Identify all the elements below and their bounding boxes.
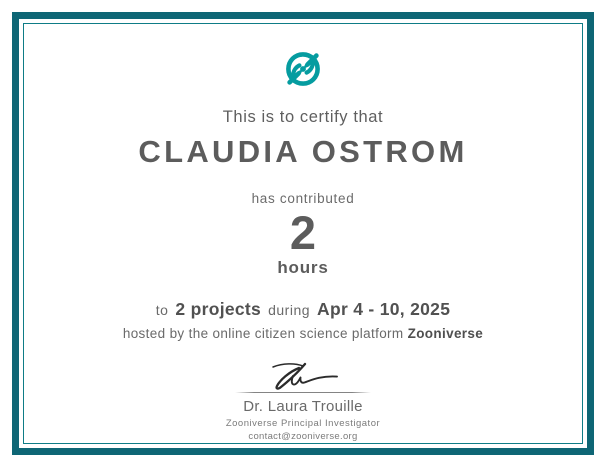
projects-count: 2 projects — [175, 299, 261, 319]
certify-text: This is to certify that — [223, 108, 384, 127]
projects-prefix-label: to — [156, 302, 169, 318]
platform-brand-name: Zooniverse — [408, 326, 484, 341]
projects-date-line: to2 projectsduringApr 4 - 10, 2025 — [156, 299, 451, 320]
signer-contact-email: contact@zooniverse.org — [248, 431, 357, 442]
signer-name: Dr. Laura Trouille — [243, 398, 363, 415]
during-label: during — [268, 302, 310, 318]
signature-rule — [235, 392, 371, 393]
zooniverse-logo-icon — [280, 46, 326, 92]
signature-mark-icon — [253, 361, 353, 391]
date-range: Apr 4 - 10, 2025 — [317, 299, 450, 319]
signature-block: Dr. Laura Trouille Zooniverse Principal … — [203, 361, 403, 442]
certificate-outer-border: This is to certify that CLAUDIA OSTROM h… — [12, 12, 594, 455]
hours-label: hours — [277, 258, 328, 278]
certificate: This is to certify that CLAUDIA OSTROM h… — [0, 0, 606, 467]
recipient-name: CLAUDIA OSTROM — [138, 134, 467, 170]
contributed-text: has contributed — [252, 191, 355, 206]
signer-title: Zooniverse Principal Investigator — [226, 418, 380, 429]
hosted-prefix-text: hosted by the online citizen science pla… — [123, 326, 404, 341]
zooniverse-logo — [280, 46, 326, 92]
certificate-inner-border: This is to certify that CLAUDIA OSTROM h… — [23, 23, 583, 444]
hours-value: 2 — [290, 208, 316, 257]
hosted-line: hosted by the online citizen science pla… — [123, 326, 483, 341]
